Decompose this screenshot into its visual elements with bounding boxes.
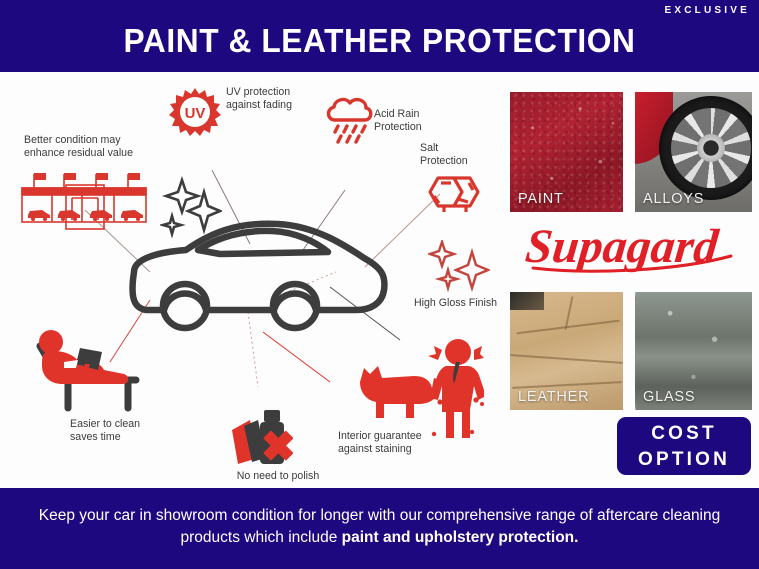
- callout-label-no-polish: No need to polish: [218, 470, 338, 483]
- callout-label-high-gloss: High Gloss Finish: [414, 297, 524, 310]
- cost-option-line1: COST: [617, 421, 751, 447]
- tile-alloys: ALLOYS: [635, 92, 752, 212]
- footer-band: Keep your car in showroom condition for …: [0, 488, 759, 569]
- footer-text: Keep your car in showroom condition for …: [16, 505, 743, 549]
- callout-label-interior-guarantee: Interior guarantee against staining: [338, 430, 458, 455]
- leather-seam: [510, 354, 623, 364]
- footer-text-bold: paint and upholstery protection.: [342, 529, 579, 546]
- slide-root: EXCLUSIVE PAINT & LEATHER PROTECTION Bet…: [0, 0, 759, 569]
- tile-caption-alloys: ALLOYS: [643, 191, 704, 207]
- callout-label-uv-protection: UV protection against fading: [226, 86, 336, 111]
- person-relaxing-lounger-icon: [18, 330, 150, 412]
- page-title: PAINT & LEATHER PROTECTION: [15, 22, 744, 60]
- leather-seam: [512, 381, 622, 389]
- rain-cloud-icon: [322, 94, 378, 146]
- tile-leather: LEATHER: [510, 292, 623, 410]
- wheel-hub: [697, 134, 725, 162]
- molecule-icon: [420, 174, 492, 226]
- tile-caption-leather: LEATHER: [518, 389, 589, 405]
- cost-option-line2: OPTION: [617, 447, 751, 473]
- uv-sun-icon: UV: [168, 86, 222, 144]
- leather-shadow: [510, 292, 544, 310]
- benefits-diagram: Better condition may enhance residual va…: [0, 72, 500, 488]
- polish-bottle-cross-icon: [228, 398, 300, 474]
- svg-text:UV: UV: [185, 105, 206, 122]
- callout-label-residual-value: Better condition may enhance residual va…: [24, 134, 154, 159]
- callout-label-acid-rain: Acid Rain Protection: [374, 108, 464, 133]
- tile-glass: GLASS: [635, 292, 752, 410]
- exclusive-eyebrow: EXCLUSIVE: [665, 5, 750, 16]
- car-outline-icon: [120, 210, 400, 335]
- tile-paint: PAINT: [510, 92, 623, 212]
- callout-label-salt-protection: Salt Protection: [420, 142, 500, 167]
- tile-caption-paint: PAINT: [518, 191, 564, 207]
- tile-caption-glass: GLASS: [643, 389, 695, 405]
- supagard-logo: Supagard: [523, 216, 753, 278]
- callout-label-easier-to-clean: Easier to clean saves time: [70, 418, 180, 443]
- cost-option-button[interactable]: COST OPTION: [617, 417, 751, 475]
- sparkles-gloss-icon: [428, 240, 490, 296]
